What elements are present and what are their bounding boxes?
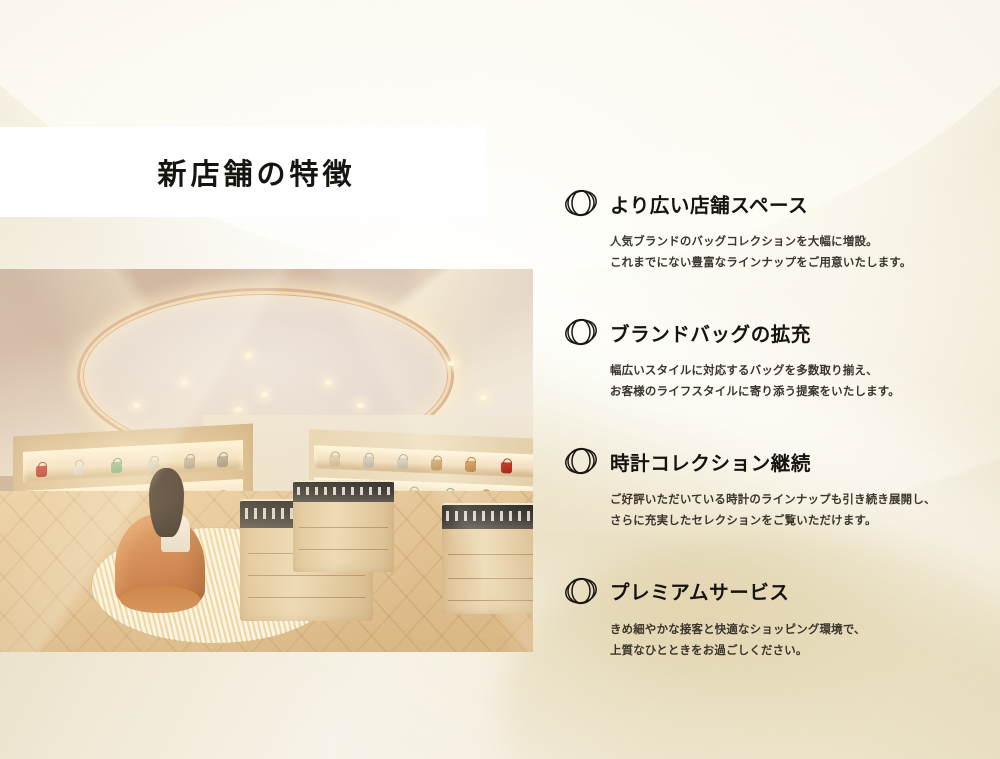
feature-title: より広い店舗スペース — [610, 189, 808, 218]
feature-item-brand-bags: ブランドバッグの拡充 幅広いスタイルに対応するバッグを多数取り揃え、 お客様のラ… — [563, 315, 983, 403]
slide-canvas: 新店舗の特徴 — [0, 0, 1000, 759]
feature-description-line: 幅広いスタイルに対応するバッグを多数取り揃え、 — [610, 361, 983, 382]
photo-handbag — [217, 455, 228, 467]
photo-handbag — [363, 456, 374, 467]
photo-case-glass-top — [293, 480, 394, 502]
feature-item-watch-collection: 時計コレクション継続 ご好評いただいている時計のラインナップも引き続き展開し、 … — [563, 444, 983, 532]
photo-downlight — [235, 407, 242, 412]
feature-description: ご好評いただいている時計のラインナップも引き続き展開し、 さらに充実したセレクシ… — [563, 490, 983, 532]
photo-handbag — [36, 465, 47, 477]
feature-description-line: さらに充実したセレクションをご覧いただけます。 — [610, 511, 983, 532]
photo-downlight — [448, 361, 455, 366]
feature-description-line: 人気ブランドのバッグコレクションを大幅に増設。 — [610, 232, 983, 253]
photo-case-glass-top — [442, 503, 533, 529]
photo-handbag — [501, 462, 512, 473]
pearl-rings-icon — [563, 315, 599, 349]
feature-description-line: これまでにない豊富なラインナップをご用意いたします。 — [610, 253, 983, 274]
feature-header: より広い店舗スペース — [563, 186, 983, 220]
photo-case-drawer-line — [299, 527, 388, 528]
photo-shopper-hair — [149, 468, 184, 537]
pearl-rings-icon — [563, 444, 599, 478]
feature-description: 人気ブランドのバッグコレクションを大幅に増設。 これまでにない豊富なラインナップ… — [563, 232, 983, 274]
photo-handbag — [465, 460, 476, 471]
feature-item-premium-service: プレミアムサービス きめ細やかな接客と快適なショッピング環境で、 上質なひととき… — [563, 574, 983, 662]
photo-handbag — [397, 457, 408, 468]
store-interior-photo — [0, 269, 533, 652]
photo-handbag — [149, 459, 160, 471]
feature-item-store-space: より広い店舗スペース 人気ブランドのバッグコレクションを大幅に増設。 これまでに… — [563, 186, 983, 274]
page-title: 新店舗の特徴 — [131, 151, 355, 193]
photo-case-drawer-line — [299, 549, 388, 550]
feature-description: きめ細やかな接客と快適なショッピング環境で、 上質なひとときをお過ごしください。 — [563, 620, 983, 662]
photo-handbag — [184, 457, 195, 469]
feature-description-line: きめ細やかな接客と快適なショッピング環境で、 — [610, 620, 983, 641]
feature-header: 時計コレクション継続 — [563, 444, 983, 478]
feature-description-line: ご好評いただいている時計のラインナップも引き続き展開し、 — [610, 490, 983, 511]
feature-title: ブランドバッグの拡充 — [610, 318, 811, 347]
feature-description-line: お客様のライフスタイルに寄り添う提案をいたします。 — [610, 382, 983, 403]
photo-handbag — [111, 461, 122, 473]
feature-title: 時計コレクション継続 — [610, 447, 811, 476]
photo-shelf-row — [23, 440, 244, 482]
photo-handbag — [431, 459, 442, 470]
title-plaque: 新店舗の特徴 — [0, 127, 487, 217]
feature-description-line: 上質なひとときをお過ごしください。 — [610, 641, 983, 662]
photo-watch-display-case — [293, 480, 394, 572]
feature-description: 幅広いスタイルに対応するバッグを多数取り揃え、 お客様のライフスタイルに寄り添う… — [563, 361, 983, 403]
photo-shelf-row — [314, 445, 533, 477]
photo-case-drawer-line — [448, 554, 533, 555]
photo-handbag — [74, 463, 85, 475]
photo-downlight — [261, 392, 268, 397]
feature-title: プレミアムサービス — [610, 576, 790, 605]
photo-case-drawer-line — [448, 600, 533, 601]
pearl-rings-icon — [563, 186, 599, 220]
feature-list: より広い店舗スペース 人気ブランドのバッグコレクションを大幅に増設。 これまでに… — [563, 186, 983, 662]
photo-watch-display-case — [442, 503, 533, 614]
feature-header: ブランドバッグの拡充 — [563, 315, 983, 349]
feature-header: プレミアムサービス — [563, 574, 983, 608]
pearl-rings-icon — [563, 574, 599, 608]
photo-case-drawer-line — [448, 578, 533, 579]
photo-case-drawer-line — [248, 597, 365, 598]
photo-handbag — [330, 454, 341, 465]
photo-case-drawer-line — [248, 575, 365, 576]
